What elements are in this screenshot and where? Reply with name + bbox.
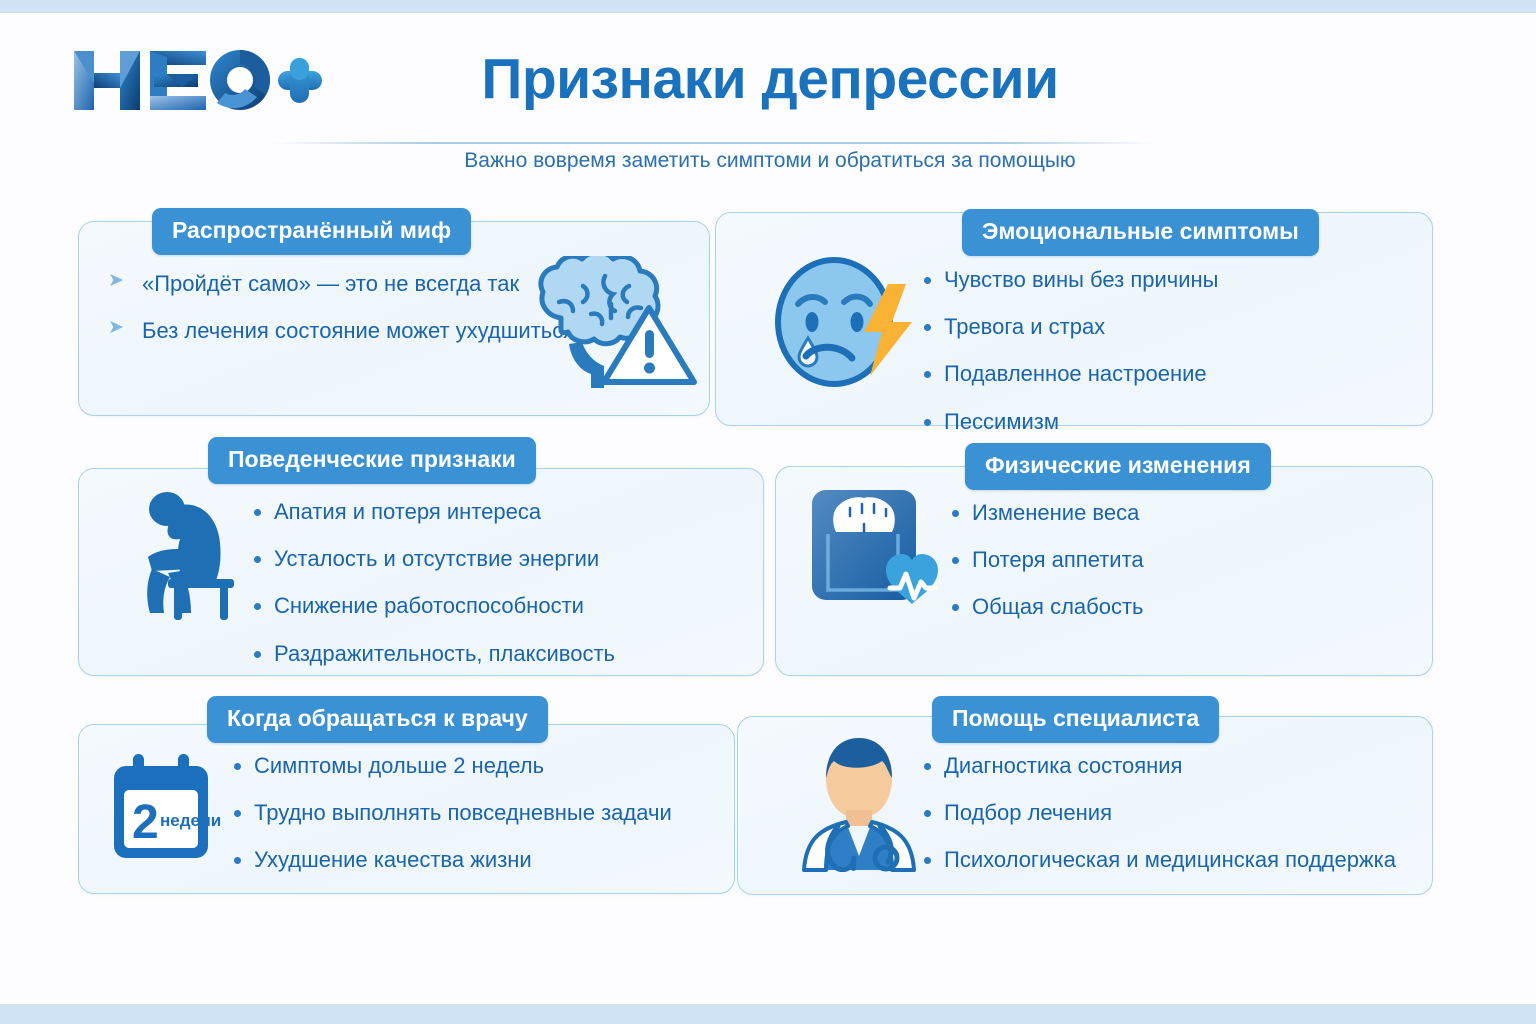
- list-item: Раздражительность, плаксивость: [248, 642, 615, 666]
- weight-scale-heart-icon: [808, 484, 948, 619]
- card-help-bullets: Диагностика состояния Подбор лечения Пси…: [918, 754, 1396, 896]
- list-item-label: Общая слабость: [972, 594, 1144, 619]
- sitting-person-icon: [140, 483, 260, 623]
- card-myth-bullets: ➤«Пройдёт само» — это не всегда так ➤Без…: [108, 272, 575, 366]
- list-item: Усталость и отсутствие энергии: [248, 547, 615, 571]
- list-item: Симптомы дольше 2 недель: [228, 754, 672, 778]
- card-physical-badge: Физические изменения: [965, 443, 1271, 490]
- arrow-bullet-icon: ➤: [108, 318, 124, 339]
- dot-bullet-icon: [924, 371, 931, 378]
- dot-bullet-icon: [952, 557, 959, 564]
- card-physical-bullets: Изменение веса Потеря аппетита Общая сла…: [946, 501, 1144, 643]
- card-emotional-badge: Эмоциональные симптомы: [962, 209, 1319, 256]
- list-item-label: Раздражительность, плаксивость: [274, 641, 615, 666]
- arrow-bullet-icon: ➤: [108, 271, 124, 292]
- infographic-page: Признаки депрессии Важно вовремя заметит…: [0, 0, 1536, 1024]
- dot-bullet-icon: [234, 763, 241, 770]
- list-item: ➤Без лечения состояние может ухудшиться: [108, 319, 575, 343]
- dot-bullet-icon: [924, 277, 931, 284]
- calendar-number: 2: [132, 796, 159, 849]
- list-item-label: Без лечения состояние может ухудшиться: [142, 318, 575, 343]
- list-item: Трудно выполнять повседневные задачи: [228, 801, 672, 825]
- list-item: Чувство вины без причины: [918, 268, 1218, 292]
- list-item-label: Трудно выполнять повседневные задачи: [254, 800, 672, 825]
- card-help-badge: Помощь специалиста: [932, 696, 1219, 743]
- list-item: Апатия и потеря интереса: [248, 500, 615, 524]
- list-item-label: Снижение работоспособности: [274, 593, 584, 618]
- header: Признаки депрессии Важно вовремя заметит…: [0, 18, 1536, 168]
- card-when-badge: Когда обращаться к врачу: [207, 696, 548, 743]
- calendar-icon: 2 недели: [104, 752, 226, 864]
- list-item-label: Диагностика состояния: [944, 753, 1182, 778]
- list-item-label: «Пройдёт само» — это не всегда так: [142, 271, 519, 296]
- calendar-unit: недели: [160, 811, 221, 830]
- dot-bullet-icon: [234, 810, 241, 817]
- list-item-label: Пессимизм: [944, 409, 1059, 434]
- list-item-label: Психологическая и медицинская поддержка: [944, 847, 1396, 872]
- list-item: Диагностика состояния: [918, 754, 1396, 778]
- card-emotional-bullets: Чувство вины без причины Тревога и страх…: [918, 268, 1218, 457]
- sad-face-lightning-icon: [772, 252, 920, 392]
- dot-bullet-icon: [952, 510, 959, 517]
- list-item: Подавленное настроение: [918, 362, 1218, 386]
- dot-bullet-icon: [924, 324, 931, 331]
- page-title: Признаки депрессии: [330, 46, 1210, 112]
- brain-warning-icon: [521, 256, 701, 396]
- list-item-label: Симптомы дольше 2 недель: [254, 753, 544, 778]
- list-item: ➤«Пройдёт само» — это не всегда так: [108, 272, 575, 296]
- card-behaviour-bullets: Апатия и потеря интереса Усталость и отс…: [248, 500, 615, 689]
- list-item: Общая слабость: [946, 595, 1144, 619]
- card-myth-badge: Распространённый миф: [152, 208, 471, 255]
- card-behaviour-badge: Поведенческие признаки: [208, 437, 536, 484]
- list-item-label: Изменение веса: [972, 500, 1139, 525]
- list-item: Тревога и страх: [918, 315, 1218, 339]
- list-item: Снижение работоспособности: [248, 594, 615, 618]
- list-item-label: Апатия и потеря интереса: [274, 499, 541, 524]
- list-item-label: Подавленное настроение: [944, 361, 1207, 386]
- list-item: Ухудшение качества жизни: [228, 848, 672, 872]
- list-item: Психологическая и медицинская поддержка: [918, 848, 1396, 872]
- list-item-label: Подбор лечения: [944, 800, 1112, 825]
- dot-bullet-icon: [924, 419, 931, 426]
- dot-bullet-icon: [234, 857, 241, 864]
- title-divider: [270, 142, 1155, 144]
- dot-bullet-icon: [952, 604, 959, 611]
- neo-plus-logo: [72, 43, 322, 118]
- list-item-label: Потеря аппетита: [972, 547, 1144, 572]
- list-item-label: Усталость и отсутствие энергии: [274, 546, 599, 571]
- list-item: Подбор лечения: [918, 801, 1396, 825]
- list-item: Потеря аппетита: [946, 548, 1144, 572]
- card-when-bullets: Симптомы дольше 2 недель Трудно выполнят…: [228, 754, 672, 896]
- list-item: Изменение веса: [946, 501, 1144, 525]
- list-item: Пессимизм: [918, 410, 1218, 434]
- dot-bullet-icon: [254, 651, 261, 658]
- list-item-label: Чувство вины без причины: [944, 267, 1218, 292]
- list-item-label: Ухудшение качества жизни: [254, 847, 532, 872]
- doctor-icon: [788, 734, 930, 872]
- list-item-label: Тревога и страх: [944, 314, 1105, 339]
- page-subtitle: Важно вовремя заметить симптоми и обрати…: [330, 149, 1210, 173]
